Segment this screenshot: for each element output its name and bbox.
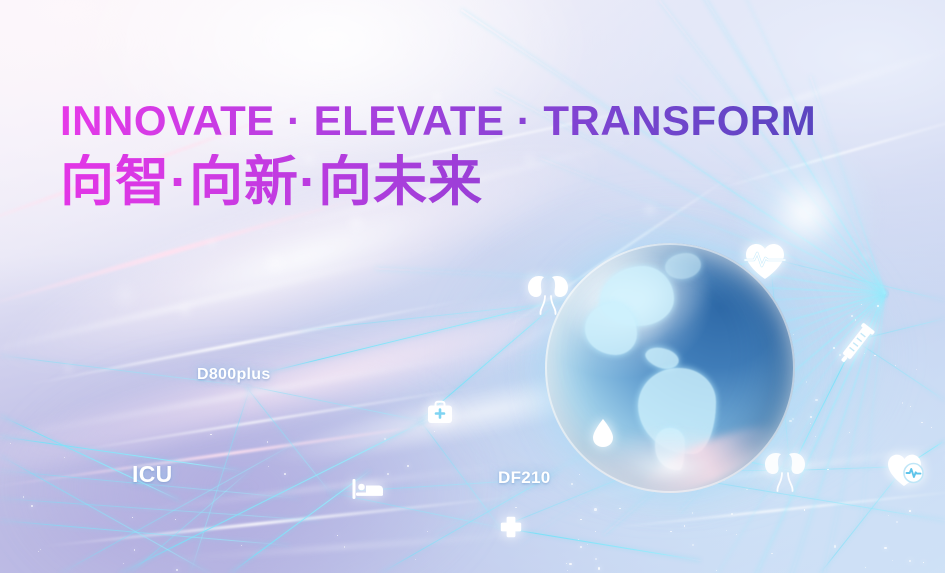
headline-english: INNOVATE · ELEVATE · TRANSFORM (60, 100, 920, 142)
light-streak-5 (0, 417, 478, 490)
sparkle-99 (210, 434, 212, 436)
sparkle-96 (284, 473, 286, 475)
heart-pulse-icon-top (743, 241, 787, 281)
bokeh-0 (108, 278, 142, 312)
light-streak-1 (0, 242, 454, 363)
product-label-df210: DF210 (498, 468, 551, 488)
bokeh-1 (175, 300, 195, 320)
sparkle-112 (123, 563, 124, 564)
light-streak-7 (41, 495, 519, 548)
sparkle-109 (132, 517, 134, 519)
sparkle-91 (40, 549, 41, 550)
bokeh-3 (60, 360, 76, 376)
network-line-7 (245, 385, 420, 421)
sparkle-95 (38, 551, 39, 552)
sparkle-104 (31, 505, 33, 507)
sparkle-113 (23, 496, 25, 498)
product-label-icu: ICU (132, 461, 173, 488)
kidneys-icon-bottom (762, 450, 808, 492)
sparkle-102 (176, 569, 177, 570)
sparkle-97 (268, 466, 269, 467)
water-drop-icon (592, 418, 614, 448)
sparkle-90 (407, 465, 409, 467)
bokeh-4 (205, 236, 219, 250)
light-streak-3 (0, 343, 526, 443)
hero-banner: D800plus ICU DF210 INNOVATE · ELEVATE · … (0, 0, 945, 573)
medical-cross-icon (500, 516, 522, 538)
sparkle-94 (267, 441, 269, 443)
bokeh-2 (262, 250, 288, 276)
network-line-6 (230, 470, 371, 573)
sparkle-111 (415, 559, 417, 561)
heart-monitor-icon-right (886, 450, 926, 488)
sparkle-106 (175, 519, 176, 520)
sparkle-110 (344, 546, 345, 547)
network-line-0 (0, 436, 240, 471)
sparkle-101 (10, 443, 11, 444)
headline-chinese: 向智·向新·向未来 (60, 154, 920, 211)
network-line-x1 (0, 455, 210, 573)
light-streak-4 (62, 384, 487, 454)
network-line-3 (0, 415, 180, 501)
sparkle-98 (64, 457, 65, 458)
product-label-d800plus: D800plus (197, 366, 271, 384)
sparkle-108 (384, 438, 386, 440)
sparkle-92 (241, 545, 242, 546)
sparkle-107 (387, 473, 389, 475)
bokeh-5 (345, 212, 367, 234)
sparkle-103 (427, 531, 428, 532)
network-line-x0 (0, 520, 290, 546)
sparkle-100 (434, 431, 435, 432)
network-line-4 (60, 440, 301, 573)
hospital-bed-icon (352, 478, 384, 500)
network-line-8 (244, 385, 330, 493)
kidneys-icon-left (525, 272, 571, 316)
sparkle-93 (337, 535, 339, 537)
network-line-23 (189, 386, 250, 573)
network-line-2 (0, 498, 320, 521)
headline-block: INNOVATE · ELEVATE · TRANSFORM 向智·向新·向未来 (60, 100, 920, 211)
sparkle-105 (134, 549, 135, 550)
medical-kit-icon (427, 400, 453, 424)
